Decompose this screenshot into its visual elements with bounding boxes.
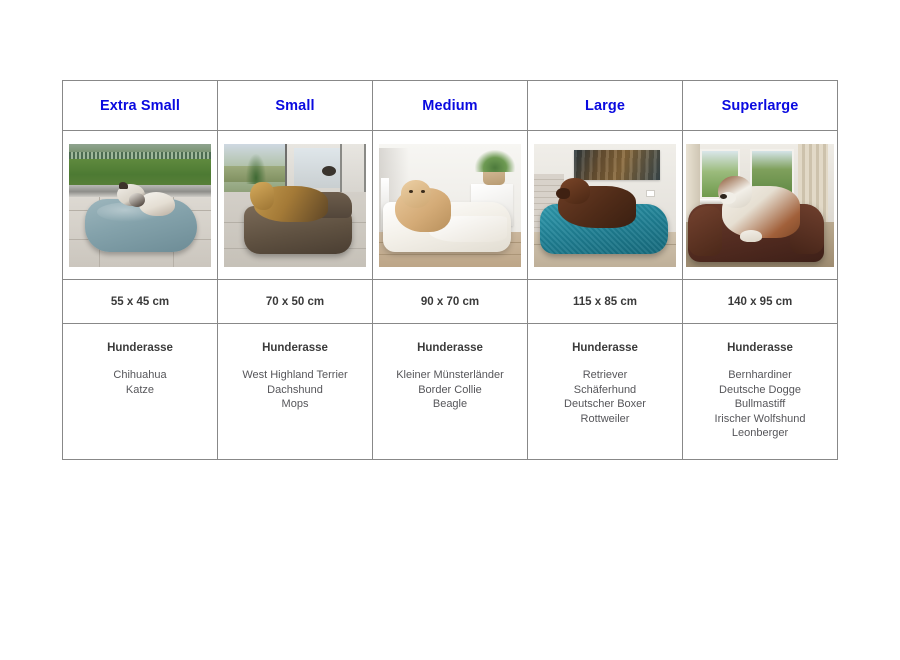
- breed-title-small: Hunderasse: [218, 342, 372, 354]
- breed-cell-medium: Hunderasse Kleiner Münsterländer Border …: [373, 324, 528, 460]
- size-name-extra-small: Extra Small: [63, 98, 217, 114]
- list-item: Kleiner Münsterländer: [373, 368, 527, 383]
- product-photo-extra-small: [69, 144, 211, 267]
- breed-list-large: Retriever Schäferhund Deutscher Boxer Ro…: [528, 368, 682, 426]
- size-name-medium: Medium: [373, 98, 527, 114]
- dimension-cell-small: 70 x 50 cm: [218, 280, 373, 324]
- product-photo-small: [224, 144, 366, 267]
- list-item: Rottweiler: [528, 412, 682, 427]
- size-name-superlarge: Superlarge: [683, 98, 837, 114]
- photo-cell-medium: [373, 131, 528, 280]
- breed-cell-large: Hunderasse Retriever Schäferhund Deutsch…: [528, 324, 683, 460]
- list-item: Katze: [63, 383, 217, 398]
- list-item: West Highland Terrier: [218, 368, 372, 383]
- list-item: Retriever: [528, 368, 682, 383]
- list-item: Beagle: [373, 397, 527, 412]
- breed-title-large: Hunderasse: [528, 342, 682, 354]
- list-item: Deutscher Boxer: [528, 397, 682, 412]
- breed-list-medium: Kleiner Münsterländer Border Collie Beag…: [373, 368, 527, 412]
- breed-row: Hunderasse Chihuahua Katze Hunderasse We…: [63, 324, 838, 460]
- dimension-superlarge: 140 x 95 cm: [683, 296, 837, 308]
- header-cell-medium: Medium: [373, 81, 528, 131]
- photo-wrap-large: [528, 131, 682, 279]
- list-item: Border Collie: [373, 383, 527, 398]
- header-cell-small: Small: [218, 81, 373, 131]
- dimension-cell-large: 115 x 85 cm: [528, 280, 683, 324]
- dimension-extra-small: 55 x 45 cm: [63, 296, 217, 308]
- dimension-cell-extra-small: 55 x 45 cm: [63, 280, 218, 324]
- size-header-row: Extra Small Small Medium Large Superlarg…: [63, 81, 838, 131]
- breed-list-small: West Highland Terrier Dachshund Mops: [218, 368, 372, 412]
- list-item: Leonberger: [683, 426, 837, 441]
- list-item: Bernhardiner: [683, 368, 837, 383]
- dimension-medium: 90 x 70 cm: [373, 296, 527, 308]
- header-cell-large: Large: [528, 81, 683, 131]
- photo-cell-superlarge: [683, 131, 838, 280]
- product-photo-row: [63, 131, 838, 280]
- dimension-large: 115 x 85 cm: [528, 296, 682, 308]
- dimension-row: 55 x 45 cm 70 x 50 cm 90 x 70 cm 115 x 8…: [63, 280, 838, 324]
- breed-list-superlarge: Bernhardiner Deutsche Dogge Bullmastiff …: [683, 368, 837, 441]
- dog-bed-size-table: Extra Small Small Medium Large Superlarg…: [62, 80, 838, 460]
- page-canvas: Extra Small Small Medium Large Superlarg…: [0, 0, 900, 660]
- photo-wrap-extra-small: [63, 131, 217, 279]
- header-cell-superlarge: Superlarge: [683, 81, 838, 131]
- breed-cell-small: Hunderasse West Highland Terrier Dachshu…: [218, 324, 373, 460]
- list-item: Irischer Wolfshund: [683, 412, 837, 427]
- photo-cell-small: [218, 131, 373, 280]
- breed-list-extra-small: Chihuahua Katze: [63, 368, 217, 397]
- photo-wrap-small: [218, 131, 372, 279]
- breed-title-superlarge: Hunderasse: [683, 342, 837, 354]
- dimension-cell-superlarge: 140 x 95 cm: [683, 280, 838, 324]
- photo-cell-large: [528, 131, 683, 280]
- product-photo-medium: [379, 144, 521, 267]
- list-item: Mops: [218, 397, 372, 412]
- list-item: Bullmastiff: [683, 397, 837, 412]
- dimension-cell-medium: 90 x 70 cm: [373, 280, 528, 324]
- breed-cell-extra-small: Hunderasse Chihuahua Katze: [63, 324, 218, 460]
- list-item: Deutsche Dogge: [683, 383, 837, 398]
- size-name-small: Small: [218, 98, 372, 114]
- photo-cell-extra-small: [63, 131, 218, 280]
- breed-title-medium: Hunderasse: [373, 342, 527, 354]
- size-name-large: Large: [528, 98, 682, 114]
- list-item: Chihuahua: [63, 368, 217, 383]
- photo-wrap-superlarge: [683, 131, 837, 279]
- list-item: Schäferhund: [528, 383, 682, 398]
- list-item: Dachshund: [218, 383, 372, 398]
- breed-cell-superlarge: Hunderasse Bernhardiner Deutsche Dogge B…: [683, 324, 838, 460]
- dimension-small: 70 x 50 cm: [218, 296, 372, 308]
- header-cell-extra-small: Extra Small: [63, 81, 218, 131]
- product-photo-large: [534, 144, 676, 267]
- breed-title-extra-small: Hunderasse: [63, 342, 217, 354]
- product-photo-superlarge: [686, 144, 834, 267]
- photo-wrap-medium: [373, 131, 527, 279]
